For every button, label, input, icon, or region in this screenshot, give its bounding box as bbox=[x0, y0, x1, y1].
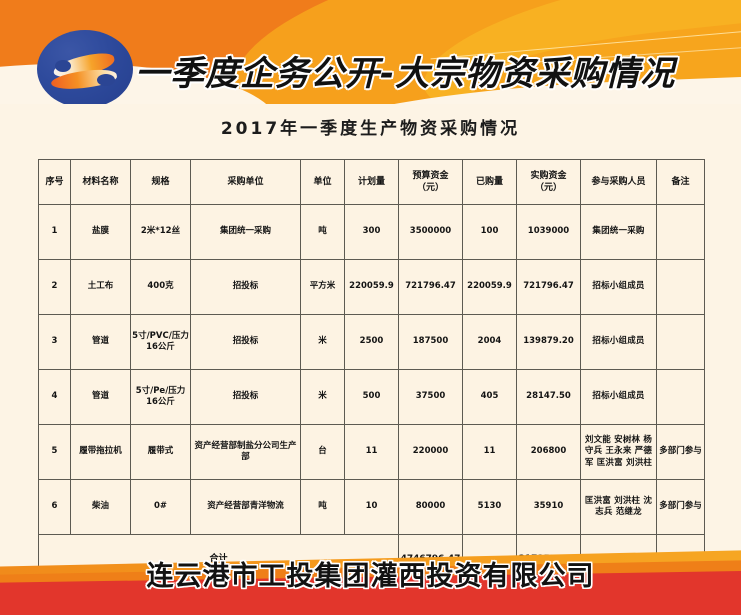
col-header-purchased-qty: 已购量 bbox=[463, 160, 517, 205]
cell-spec: 5寸/Pe/压力16公斤 bbox=[131, 370, 191, 425]
col-header-spec: 规格 bbox=[131, 160, 191, 205]
cell-purchase-unit: 资产经营部青洋物流 bbox=[191, 480, 301, 535]
table-header-row: 序号 材料名称 规格 采购单位 单位 计划量 bbox=[39, 160, 705, 205]
cell-actual-amount: 28147.50 bbox=[517, 370, 581, 425]
cell-remark: 多部门参与 bbox=[657, 425, 705, 480]
cell-purchased-qty: 405 bbox=[463, 370, 517, 425]
cell-unit: 平方米 bbox=[301, 260, 345, 315]
cell-planned-qty: 220059.9 bbox=[345, 260, 399, 315]
cell-material: 柴油 bbox=[71, 480, 131, 535]
table-row: 1 盐膜 2米*12丝 集团统一采购 吨 300 3500000 100 103… bbox=[39, 205, 705, 260]
cell-remark bbox=[657, 370, 705, 425]
col-header-unit: 单位 bbox=[301, 160, 345, 205]
table-row: 6 柴油 0# 资产经营部青洋物流 吨 10 80000 5130 35910 … bbox=[39, 480, 705, 535]
cell-purchased-qty: 220059.9 bbox=[463, 260, 517, 315]
cell-remark bbox=[657, 205, 705, 260]
cell-planned-qty: 11 bbox=[345, 425, 399, 480]
cell-seq: 4 bbox=[39, 370, 71, 425]
cell-planned-qty: 10 bbox=[345, 480, 399, 535]
cell-actual-amount: 721796.47 bbox=[517, 260, 581, 315]
cell-budget-amount: 80000 bbox=[399, 480, 463, 535]
col-header-purchase-unit-line1: 采购单位 bbox=[227, 177, 263, 187]
col-header-actual-amount-line2: （元） bbox=[535, 183, 562, 193]
cell-seq: 6 bbox=[39, 480, 71, 535]
col-header-budget-amount-line1: 预算资金 bbox=[412, 171, 448, 181]
cell-purchase-unit: 资产经营部制盐分公司生产部 bbox=[191, 425, 301, 480]
cell-actual-amount: 206800 bbox=[517, 425, 581, 480]
col-header-actual-amount-line1: 实购资金 bbox=[530, 171, 566, 181]
cell-planned-qty: 500 bbox=[345, 370, 399, 425]
cell-purchased-qty: 5130 bbox=[463, 480, 517, 535]
table-body: 1 盐膜 2米*12丝 集团统一采购 吨 300 3500000 100 103… bbox=[39, 205, 705, 584]
col-header-material-line1: 材料名称 bbox=[82, 177, 118, 187]
cell-participants: 集团统一采购 bbox=[581, 205, 657, 260]
cell-purchased-qty: 100 bbox=[463, 205, 517, 260]
company-logo bbox=[37, 30, 133, 108]
cell-participants: 刘文能 安树林 杨守兵 王永来 严德军 匡洪富 刘洪柱 bbox=[581, 425, 657, 480]
cell-participants: 招标小组成员 bbox=[581, 370, 657, 425]
cell-unit: 吨 bbox=[301, 480, 345, 535]
cell-material: 履带拖拉机 bbox=[71, 425, 131, 480]
cell-participants: 招标小组成员 bbox=[581, 315, 657, 370]
cell-budget-amount: 721796.47 bbox=[399, 260, 463, 315]
col-header-budget-amount-line2: （元） bbox=[417, 183, 444, 193]
table-row: 2 土工布 400克 招投标 平方米 220059.9 721796.47 22… bbox=[39, 260, 705, 315]
col-header-participants-line1: 参与采购人员 bbox=[591, 177, 645, 187]
table-row: 4 管道 5寸/Pe/压力16公斤 招投标 米 500 37500 405 28… bbox=[39, 370, 705, 425]
col-header-remark-line1: 备注 bbox=[671, 177, 689, 187]
cell-participants: 匡洪富 刘洪柱 沈志兵 范继龙 bbox=[581, 480, 657, 535]
col-header-participants: 参与采购人员 bbox=[581, 160, 657, 205]
cell-purchased-qty: 11 bbox=[463, 425, 517, 480]
procurement-table-wrap: 序号 材料名称 规格 采购单位 单位 计划量 bbox=[38, 159, 704, 584]
col-header-purchase-unit: 采购单位 bbox=[191, 160, 301, 205]
cell-actual-amount: 35910 bbox=[517, 480, 581, 535]
cell-unit: 米 bbox=[301, 370, 345, 425]
col-header-planned-qty: 计划量 bbox=[345, 160, 399, 205]
cell-spec: 2米*12丝 bbox=[131, 205, 191, 260]
footer-company-name: 连云港市工投集团灌西投资有限公司 bbox=[0, 554, 741, 593]
cell-planned-qty: 2500 bbox=[345, 315, 399, 370]
col-header-seq-line1: 序号 bbox=[45, 177, 63, 187]
procurement-table: 序号 材料名称 规格 采购单位 单位 计划量 bbox=[38, 159, 705, 584]
cell-spec: 履带式 bbox=[131, 425, 191, 480]
cell-seq: 2 bbox=[39, 260, 71, 315]
cell-remark bbox=[657, 260, 705, 315]
poster-root: 一季度企务公开-大宗物资采购情况 2017年一季度生产物资采购情况 bbox=[0, 0, 741, 615]
col-header-unit-line1: 单位 bbox=[313, 177, 331, 187]
cell-budget-amount: 187500 bbox=[399, 315, 463, 370]
col-header-planned-qty-line1: 计划量 bbox=[358, 177, 385, 187]
cell-budget-amount: 37500 bbox=[399, 370, 463, 425]
logo-notch-upper-icon bbox=[55, 60, 71, 72]
cell-unit: 台 bbox=[301, 425, 345, 480]
cell-seq: 1 bbox=[39, 205, 71, 260]
cell-purchase-unit: 招投标 bbox=[191, 260, 301, 315]
page-subtitle: 2017年一季度生产物资采购情况 bbox=[0, 114, 741, 139]
cell-material: 管道 bbox=[71, 370, 131, 425]
table-row: 5 履带拖拉机 履带式 资产经营部制盐分公司生产部 台 11 220000 11… bbox=[39, 425, 705, 480]
col-header-material: 材料名称 bbox=[71, 160, 131, 205]
cell-seq: 5 bbox=[39, 425, 71, 480]
cell-purchase-unit: 招投标 bbox=[191, 315, 301, 370]
cell-purchase-unit: 招投标 bbox=[191, 370, 301, 425]
logo-notch-lower-icon bbox=[97, 74, 115, 86]
cell-purchase-unit: 集团统一采购 bbox=[191, 205, 301, 260]
cell-budget-amount: 220000 bbox=[399, 425, 463, 480]
col-header-spec-line1: 规格 bbox=[151, 177, 169, 187]
col-header-remark: 备注 bbox=[657, 160, 705, 205]
col-header-budget-amount: 预算资金 （元） bbox=[399, 160, 463, 205]
table-row: 3 管道 5寸/PVC/压力16公斤 招投标 米 2500 187500 200… bbox=[39, 315, 705, 370]
cell-planned-qty: 300 bbox=[345, 205, 399, 260]
cell-spec: 400克 bbox=[131, 260, 191, 315]
col-header-purchased-qty-line1: 已购量 bbox=[476, 177, 503, 187]
cell-unit: 吨 bbox=[301, 205, 345, 260]
cell-material: 土工布 bbox=[71, 260, 131, 315]
banner-title: 一季度企务公开-大宗物资采购情况 bbox=[135, 46, 735, 95]
cell-participants: 招标小组成员 bbox=[581, 260, 657, 315]
cell-seq: 3 bbox=[39, 315, 71, 370]
cell-actual-amount: 1039000 bbox=[517, 205, 581, 260]
table-header-row-group: 序号 材料名称 规格 采购单位 单位 计划量 bbox=[39, 160, 705, 205]
cell-spec: 5寸/PVC/压力16公斤 bbox=[131, 315, 191, 370]
cell-budget-amount: 3500000 bbox=[399, 205, 463, 260]
cell-actual-amount: 139879.20 bbox=[517, 315, 581, 370]
col-header-actual-amount: 实购资金 （元） bbox=[517, 160, 581, 205]
cell-purchased-qty: 2004 bbox=[463, 315, 517, 370]
cell-remark: 多部门参与 bbox=[657, 480, 705, 535]
cell-material: 管道 bbox=[71, 315, 131, 370]
cell-remark bbox=[657, 315, 705, 370]
cell-unit: 米 bbox=[301, 315, 345, 370]
cell-spec: 0# bbox=[131, 480, 191, 535]
cell-material: 盐膜 bbox=[71, 205, 131, 260]
col-header-seq: 序号 bbox=[39, 160, 71, 205]
